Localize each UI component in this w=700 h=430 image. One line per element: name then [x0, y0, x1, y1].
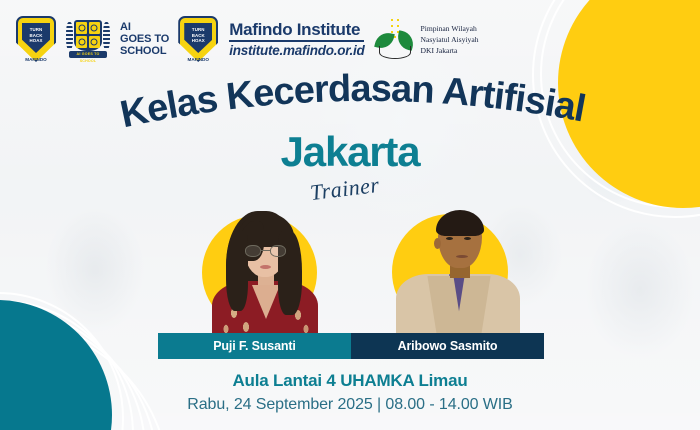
eyeglasses-icon [245, 245, 286, 258]
ai-goes-to-school-crest: AI GOES TO SCHOOL [65, 16, 111, 62]
poster-title-line2: Jakarta [0, 128, 700, 176]
ai-wordmark-line3: SCHOOL [120, 45, 169, 57]
poster-canvas: TURN BACK HOAX MAFINDO AI GOES TO SCHOOL… [0, 0, 700, 430]
speaker-name-right: Aribowo Sasmito [351, 333, 544, 359]
speaker-name-left: Puji F. Susanti [158, 333, 351, 359]
poster-title-line1: Kelas Kecerdasan Artifisial [117, 68, 588, 136]
crest-banner-label: AI GOES TO SCHOOL [69, 51, 107, 58]
shield2-ribbon-label: MAFINDO [180, 57, 216, 62]
speaker-photo-left [196, 205, 331, 340]
pw-line3: DKI Jakarta [420, 45, 478, 56]
pw-line1: Pimpinan Wilayah [420, 23, 478, 34]
mafindo-institute-url: institute.mafindo.or.id [229, 43, 364, 58]
mafindo-shield-logo: TURN BACK HOAX MAFINDO [16, 16, 56, 62]
mafindo-institute-wordmark: Mafindo Institute institute.mafindo.or.i… [229, 20, 364, 57]
shield2-text-line3: HOAX [178, 38, 218, 44]
nasyiatul-aisyiyah-text: Pimpinan Wilayah Nasyiatul Aisyiyah DKI … [420, 23, 478, 56]
ai-wordmark-line1: AI [120, 21, 169, 33]
pw-line2: Nasyiatul Aisyiyah [420, 34, 478, 45]
speaker-photo-right [388, 202, 528, 342]
datetime-text: Rabu, 24 September 2025 | 08.00 - 14.00 … [0, 396, 700, 414]
nasyiatul-aisyiyah-logo: Pimpinan Wilayah Nasyiatul Aisyiyah DKI … [375, 16, 478, 62]
shield-text-line3: HOAX [16, 38, 56, 44]
ai-goes-to-school-wordmark: AI GOES TO SCHOOL [120, 21, 169, 58]
ai-wordmark-line2: GOES TO [120, 33, 169, 45]
mafindo-institute-title: Mafindo Institute [229, 20, 364, 41]
shield-ribbon-label: MAFINDO [18, 57, 54, 62]
wheat-emblem-icon [375, 16, 415, 62]
svg-text:Kelas Kecerdasan Artifisial: Kelas Kecerdasan Artifisial [117, 68, 588, 136]
mafindo-shield-logo-2: TURN BACK HOAX MAFINDO [178, 16, 218, 62]
logo-row: TURN BACK HOAX MAFINDO AI GOES TO SCHOOL… [0, 8, 700, 70]
left-speaker-portrait [196, 205, 331, 340]
venue-text: Aula Lantai 4 UHAMKA Limau [0, 371, 700, 391]
speaker-name-bars: Puji F. Susanti Aribowo Sasmito [158, 333, 544, 359]
right-speaker-portrait [388, 202, 528, 342]
